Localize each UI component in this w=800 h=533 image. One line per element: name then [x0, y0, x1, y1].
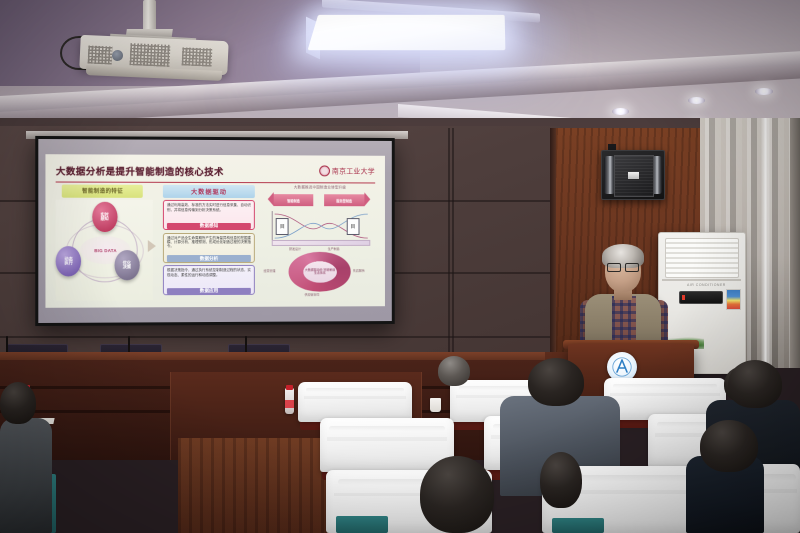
audience-person-body: [0, 418, 52, 533]
donut-center-label: 大数据驱动的 智能制造生态体系: [303, 261, 336, 282]
audience-head: [540, 452, 582, 508]
flow-arrow-icon: [148, 240, 156, 252]
middle-column-caption: 大数据驱动: [163, 185, 255, 198]
audience-head: [438, 356, 470, 386]
node-optimized-decision: 优化决策: [114, 250, 139, 280]
speaker-brand-badge: [628, 172, 639, 179]
box-text: 通过利用高效、标准的方法实时进行信息采集、自动识别，并将信息传输到分析决策系统。: [167, 203, 251, 212]
box-text: 根据决策指令，通过执行系统控制制造过程的状态，实现动态、柔性的运行和动态调整。: [167, 268, 251, 277]
donut-label-management: 经营管理: [264, 269, 276, 273]
water-bottle-cap: [286, 385, 293, 390]
arrow-smart-manufacturing: 智能制造: [274, 195, 314, 207]
projection-screen: 大数据分析是提升智能制造的核心技术 南京工业大学 智能制造的特征 BIG DAT…: [35, 136, 394, 326]
slide-box-data-application: 根据决策指令，通过执行系统控制制造过程的状态，实现动态、柔性的运行和动态调整。 …: [163, 265, 255, 296]
curtain-right-edge: [790, 118, 800, 368]
lecture-room-photo: 大数据分析是提升智能制造的核心技术 南京工业大学 智能制造的特征 BIG DAT…: [0, 0, 800, 533]
recessed-downlight: [612, 108, 629, 115]
chart-marker-left: 目: [276, 218, 289, 235]
slide-body: 智能制造的特征 BIG DATA 实时感知 动态执行 优化决策: [56, 185, 375, 302]
node-dynamic-execution: 动态执行: [56, 246, 81, 276]
slide-column-left: 智能制造的特征 BIG DATA 实时感知 动态执行 优化决策: [56, 185, 153, 302]
university-seal-icon: [319, 165, 330, 176]
audience-head: [528, 358, 584, 406]
projector-vent-grille: [130, 43, 171, 67]
water-bottle-label: [285, 400, 294, 408]
projector-vent-grille: [182, 47, 213, 66]
donut-label-supplychain: 供应链协同: [305, 293, 320, 297]
audience-head: [420, 456, 494, 533]
smart-manufacturing-diagram: BIG DATA 实时感知 动态执行 优化决策: [56, 200, 153, 301]
university-logo: 南京工业大学: [319, 165, 375, 176]
donut-label-rd: 研发设计: [289, 247, 301, 251]
seat-base: [336, 516, 388, 533]
ecosystem-donut-chart: 大数据驱动的 智能制造生态体系: [289, 252, 351, 291]
wall-panel-seam: [452, 128, 454, 368]
wall-panel-seam: [448, 128, 450, 368]
seat-base: [552, 518, 604, 533]
chart-timeline-band: [271, 240, 370, 247]
slide-column-middle: 大数据驱动 通过利用高效、标准的方法实时进行信息采集、自动识别，并将信息传输到分…: [161, 185, 257, 302]
slide-title: 大数据分析是提升智能制造的核心技术: [56, 163, 224, 178]
glasses-lens-right: [625, 263, 639, 272]
box-label: 数据分析: [167, 255, 251, 262]
glasses-lens-left: [607, 263, 621, 272]
paper-cup[interactable]: [430, 398, 441, 412]
emblem-icon: [611, 356, 633, 378]
node-realtime-sensing: 实时感知: [92, 202, 117, 232]
box-label: 数据感知: [167, 223, 251, 230]
university-name: 南京工业大学: [332, 166, 375, 176]
arrow-service-manufacturing: 服务型制造: [324, 195, 364, 207]
slide-column-right: 大数据推进中国制造业转型升级 智能制造 服务型制造 目 目: [265, 185, 375, 301]
ac-display-panel[interactable]: [679, 291, 723, 304]
ac-air-vent: [665, 238, 739, 278]
audience-head: [700, 420, 758, 472]
slide-box-data-analysis: 通过对产品全生命周期所产生的海量异构信息的挖掘建模、计算分析、推理预测，形成优化…: [163, 233, 255, 263]
wall-panel-seam: [0, 336, 560, 338]
ac-energy-label: [726, 289, 741, 310]
projector-vent-grille: [88, 45, 113, 64]
recessed-downlight: [688, 97, 705, 104]
slide-header: 大数据分析是提升智能制造的核心技术 南京工业大学: [56, 158, 375, 183]
donut-label-production: 生产制造: [328, 247, 340, 251]
left-column-caption: 智能制造的特征: [62, 185, 144, 198]
curtain-light-gap: [761, 118, 770, 368]
box-text: 通过对产品全生命周期所产生的海量异构信息的挖掘建模、计算分析、推理预测，形成优化…: [167, 236, 251, 249]
speaker-glasses: [607, 263, 639, 270]
chair-cover: [298, 382, 412, 422]
donut-label-service: 售后服务: [353, 268, 365, 272]
box-label: 数据应用: [167, 288, 251, 295]
right-column-caption: 大数据推进中国制造业转型升级: [265, 185, 375, 190]
led-ceiling-panel: [308, 15, 506, 50]
ac-seam: [662, 279, 741, 281]
jbl-wall-speaker: [601, 150, 665, 200]
ac-brand-text: AIR CONDITIONER: [687, 283, 726, 287]
slide-box-data-perception: 通过利用高效、标准的方法实时进行信息采集、自动识别，并将信息传输到分析决策系统。…: [163, 200, 255, 230]
recessed-downlight: [755, 88, 773, 95]
ac-power-indicator: [682, 295, 685, 300]
projection-screen-surface: 大数据分析是提升智能制造的核心技术 南京工业大学 智能制造的特征 BIG DAT…: [38, 139, 391, 323]
presentation-slide: 大数据分析是提升智能制造的核心技术 南京工业大学 智能制造的特征 BIG DAT…: [46, 154, 385, 309]
audience-head: [728, 360, 782, 408]
chart-marker-right: 目: [346, 218, 359, 235]
audience-head: [0, 382, 36, 424]
